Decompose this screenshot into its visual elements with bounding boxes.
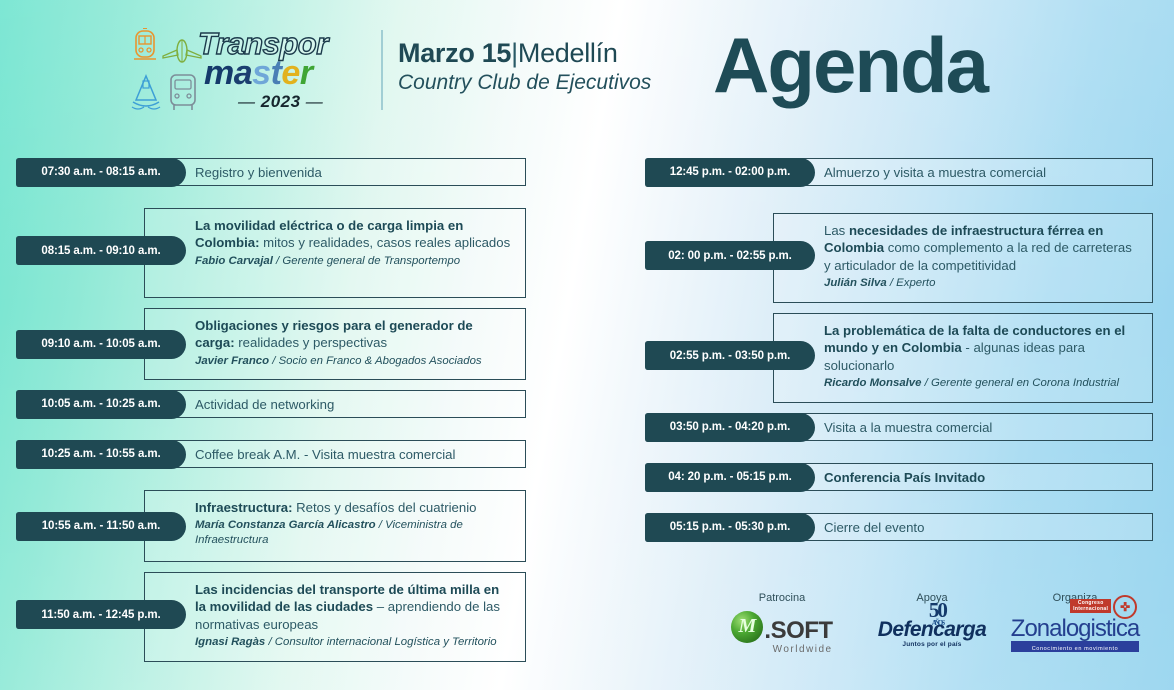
event-city: Medellín	[518, 38, 618, 68]
agenda-time-pill[interactable]: 05:15 p.m. - 05:30 p.m.	[645, 513, 815, 542]
agenda-speaker: Ignasi Ragàs / Consultor internacional L…	[195, 635, 513, 650]
defencarga-logo[interactable]: 50AÑOS Defencarga Juntos por el país	[862, 612, 1002, 654]
sponsor-label-patrocina: Patrocina	[712, 592, 852, 604]
agenda-card-body: Las necesidades de infraestructura férre…	[774, 214, 1152, 299]
agenda-card: Coffee break A.M. - Visita muestra comer…	[144, 440, 526, 468]
logo-year: — 2023 —	[238, 92, 323, 112]
agenda-topic: Las necesidades de infraestructura férre…	[824, 222, 1140, 274]
agenda-time-pill[interactable]: 07:30 a.m. - 08:15 a.m.	[16, 158, 186, 187]
event-info: Marzo 15|Medellín Country Club de Ejecut…	[398, 38, 651, 95]
agenda-card-body: Cierre del evento	[774, 514, 1152, 542]
agenda-card-body: Registro y bienvenida	[145, 159, 525, 187]
sponsors-section: Patrocina .SOFT Worldwide Apoya 50AÑOS D…	[712, 592, 1152, 672]
agenda-row[interactable]: Las incidencias del transporte de última…	[16, 572, 526, 662]
agenda-topic-rest: mitos y realidades, casos reales aplicad…	[259, 235, 510, 250]
sponsor-organiza: Organiza CongresoInternacional ✜ Zonalog…	[1000, 592, 1150, 654]
msoft-logo[interactable]: .SOFT Worldwide	[712, 612, 852, 654]
agenda-card: Obligaciones y riesgos para el generador…	[144, 308, 526, 380]
event-date-city: Marzo 15|Medellín	[398, 38, 651, 69]
msoft-orb-icon	[731, 611, 763, 643]
agenda-card-body: Las incidencias del transporte de última…	[145, 573, 525, 658]
agenda-topic: Las incidencias del transporte de última…	[195, 581, 513, 633]
agenda-row[interactable]: Cierre del evento05:15 p.m. - 05:30 p.m.	[645, 513, 1153, 541]
agenda-topic-rest: Coffee break A.M. - Visita muestra comer…	[195, 447, 455, 462]
agenda-row[interactable]: Visita a la muestra comercial03:50 p.m. …	[645, 413, 1153, 441]
agenda-row[interactable]: Registro y bienvenida07:30 a.m. - 08:15 …	[16, 158, 526, 186]
agenda-time-pill[interactable]: 03:50 p.m. - 04:20 p.m.	[645, 413, 815, 442]
agenda-card: Conferencia País Invitado	[773, 463, 1153, 491]
plane-icon	[162, 38, 202, 64]
agenda-card-body: Almuerzo y visita a muestra comercial	[774, 159, 1152, 187]
agenda-topic: La movilidad eléctrica o de carga limpia…	[195, 217, 513, 252]
agenda-card: Actividad de networking	[144, 390, 526, 418]
logo-wordmark: Transpor master — 2023 —	[198, 26, 370, 116]
msoft-wordmark: .SOFT	[764, 619, 832, 643]
agenda-speaker-name: Julián Silva	[824, 277, 887, 289]
agenda-time-pill[interactable]: 10:25 a.m. - 10:55 a.m.	[16, 440, 186, 469]
agenda-card-body: Coffee break A.M. - Visita muestra comer…	[145, 441, 525, 469]
agenda-time-pill[interactable]: 11:50 a.m. - 12:45 p.m.	[16, 600, 186, 629]
agenda-topic-bold: Infraestructura:	[195, 500, 292, 515]
agenda-speaker: Julián Silva / Experto	[824, 276, 1140, 291]
agenda-card-body: Actividad de networking	[145, 391, 525, 419]
agenda-speaker: Ricardo Monsalve / Gerente general en Co…	[824, 376, 1140, 391]
logo-master-letter: m	[204, 56, 234, 90]
agenda-topic: Almuerzo y visita a muestra comercial	[824, 164, 1046, 181]
agenda-time-pill[interactable]: 12:45 p.m. - 02:00 p.m.	[645, 158, 815, 187]
train-icon	[130, 28, 160, 66]
transpormaster-logo: Transpor master — 2023 —	[128, 26, 368, 118]
agenda-topic-rest: Registro y bienvenida	[195, 165, 322, 180]
agenda-topic: Conferencia País Invitado	[824, 469, 985, 486]
agenda-topic-rest: Actividad de networking	[195, 397, 334, 412]
event-venue: Country Club de Ejecutivos	[398, 71, 651, 95]
agenda-topic-rest: Visita a la muestra comercial	[824, 420, 992, 435]
agenda-topic-bold: Conferencia País Invitado	[824, 470, 985, 485]
msoft-tagline: Worldwide	[731, 644, 832, 655]
agenda-card-body: Infraestructura: Retos y desafíos del cu…	[145, 491, 525, 556]
agenda-topic-prefix: Las	[824, 223, 849, 238]
logo-master-text: master	[204, 56, 313, 90]
agenda-row[interactable]: Coffee break A.M. - Visita muestra comer…	[16, 440, 526, 468]
agenda-time-pill[interactable]: 08:15 a.m. - 09:10 a.m.	[16, 236, 186, 265]
agenda-speaker-name: Fabio Carvajal	[195, 255, 273, 267]
event-separator: |	[511, 38, 518, 68]
agenda-time-pill[interactable]: 09:10 a.m. - 10:05 a.m.	[16, 330, 186, 359]
logo-master-letter: s	[252, 56, 270, 90]
agenda-topic-rest: Almuerzo y visita a muestra comercial	[824, 165, 1046, 180]
agenda-card: La movilidad eléctrica o de carga limpia…	[144, 208, 526, 298]
agenda-topic: La problemática de la falta de conductor…	[824, 322, 1140, 374]
agenda-speaker: Javier Franco / Socio en Franco & Abogad…	[195, 354, 513, 369]
page-header: Transpor master — 2023 — Marzo 15|Medell…	[0, 0, 1174, 145]
agenda-card: Visita a la muestra comercial	[773, 413, 1153, 441]
agenda-topic-rest: realidades y perspectivas	[235, 335, 387, 350]
agenda-speaker-name: Ricardo Monsalve	[824, 377, 921, 389]
agenda-row[interactable]: Infraestructura: Retos y desafíos del cu…	[16, 490, 526, 562]
agenda-card-body: Obligaciones y riesgos para el generador…	[145, 309, 525, 377]
agenda-card: Almuerzo y visita a muestra comercial	[773, 158, 1153, 186]
logo-master-letter: t	[271, 56, 282, 90]
agenda-row[interactable]: La problemática de la falta de conductor…	[645, 313, 1153, 403]
agenda-time-pill[interactable]: 04: 20 p.m. - 05:15 p.m.	[645, 463, 815, 492]
agenda-topic-rest: Cierre del evento	[824, 520, 924, 535]
agenda-card-body: La problemática de la falta de conductor…	[774, 314, 1152, 399]
agenda-speaker-role: / Gerente general en Corona Industrial	[921, 377, 1119, 389]
zonalogistica-badge: CongresoInternacional	[1070, 599, 1111, 614]
agenda-speaker-role: / Consultor internacional Logística y Te…	[265, 636, 496, 648]
transport-icons-group	[128, 28, 200, 116]
agenda-time-pill[interactable]: 10:55 a.m. - 11:50 a.m.	[16, 512, 186, 541]
agenda-speaker-name: María Constanza García Alicastro	[195, 519, 376, 531]
agenda-time-pill[interactable]: 02:55 p.m. - 03:50 p.m.	[645, 341, 815, 370]
zonalogistica-mark-icon: ✜	[1113, 595, 1137, 619]
zonalogistica-tagline: Conocimiento en movimiento	[1011, 646, 1139, 652]
agenda-speaker: Fabio Carvajal / Gerente general de Tran…	[195, 254, 513, 269]
agenda-card: Registro y bienvenida	[144, 158, 526, 186]
agenda-speaker-role: / Experto	[887, 277, 936, 289]
page-title: Agenda	[713, 26, 987, 104]
agenda-card: Las necesidades de infraestructura férre…	[773, 213, 1153, 303]
agenda-topic: Registro y bienvenida	[195, 164, 322, 181]
ship-icon	[130, 72, 162, 114]
agenda-speaker-role: / Gerente general de Transportempo	[273, 255, 460, 267]
agenda-topic: Cierre del evento	[824, 519, 924, 536]
agenda-topic: Infraestructura: Retos y desafíos del cu…	[195, 499, 513, 516]
agenda-card-body: Visita a la muestra comercial	[774, 414, 1152, 442]
agenda-topic: Coffee break A.M. - Visita muestra comer…	[195, 446, 455, 463]
agenda-row[interactable]: Almuerzo y visita a muestra comercial12:…	[645, 158, 1153, 186]
logo-master-letter: r	[300, 56, 313, 90]
header-divider	[381, 30, 383, 110]
defencarga-50-badge: 50AÑOS	[929, 598, 946, 627]
logo-master-letter: e	[281, 56, 299, 90]
agenda-topic-rest: Retos y desafíos del cuatrienio	[292, 500, 476, 515]
agenda-card: La problemática de la falta de conductor…	[773, 313, 1153, 403]
agenda-topic: Visita a la muestra comercial	[824, 419, 992, 436]
agenda-card: Las incidencias del transporte de última…	[144, 572, 526, 662]
zonalogistica-wordmark: Zonalogistica	[1011, 615, 1139, 643]
agenda-speaker: María Constanza García Alicastro / Vicem…	[195, 518, 513, 548]
agenda-speaker-role: / Socio en Franco & Abogados Asociados	[269, 355, 482, 367]
agenda-row[interactable]: Conferencia País Invitado04: 20 p.m. - 0…	[645, 463, 1153, 491]
sponsor-apoya: Apoya 50AÑOS Defencarga Juntos por el pa…	[862, 592, 1002, 654]
agenda-card: Cierre del evento	[773, 513, 1153, 541]
agenda-topic: Obligaciones y riesgos para el generador…	[195, 317, 513, 352]
event-date: Marzo 15	[398, 38, 511, 68]
agenda-speaker-name: Javier Franco	[195, 355, 269, 367]
zonalogistica-logo[interactable]: CongresoInternacional ✜ Zonalogistica Co…	[1000, 612, 1150, 654]
agenda-row[interactable]: Obligaciones y riesgos para el generador…	[16, 308, 526, 380]
agenda-card-body: Conferencia País Invitado	[774, 464, 1152, 492]
agenda-row[interactable]: Las necesidades de infraestructura férre…	[645, 213, 1153, 303]
sponsor-patrocina: Patrocina .SOFT Worldwide	[712, 592, 852, 654]
bus-icon	[166, 72, 200, 114]
logo-master-letter: a	[234, 56, 252, 90]
defencarga-tagline: Juntos por el país	[878, 641, 986, 648]
agenda-row[interactable]: La movilidad eléctrica o de carga limpia…	[16, 208, 526, 298]
agenda-time-pill[interactable]: 02: 00 p.m. - 02:55 p.m.	[645, 241, 815, 270]
agenda-row[interactable]: Actividad de networking10:05 a.m. - 10:2…	[16, 390, 526, 418]
agenda-card: Infraestructura: Retos y desafíos del cu…	[144, 490, 526, 562]
agenda-speaker-name: Ignasi Ragàs	[195, 636, 265, 648]
agenda-time-pill[interactable]: 10:05 a.m. - 10:25 a.m.	[16, 390, 186, 419]
agenda-topic: Actividad de networking	[195, 396, 334, 413]
agenda-card-body: La movilidad eléctrica o de carga limpia…	[145, 209, 525, 277]
